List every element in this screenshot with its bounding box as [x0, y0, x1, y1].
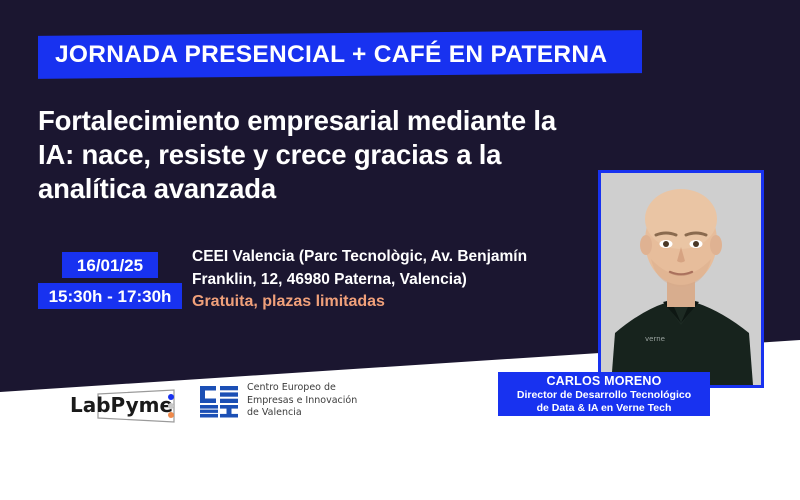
- speaker-role-line2: de Data & IA en Verne Tech: [537, 402, 672, 415]
- ceei-text-line1: Centro Europeo de: [247, 382, 357, 395]
- event-poster: JORNADA PRESENCIAL + CAFÉ EN PATERNA For…: [0, 0, 800, 500]
- time-badge: 15:30h - 17:30h: [38, 283, 182, 309]
- speaker-photo: verne: [598, 170, 764, 388]
- ribbon-label: JORNADA PRESENCIAL + CAFÉ EN PATERNA: [38, 41, 607, 69]
- date-badge-label: 16/01/25: [77, 257, 143, 274]
- ceei-text-line3: de Valencia: [247, 407, 357, 420]
- speaker-name: CARLOS MORENO: [546, 374, 661, 389]
- speaker-portrait-icon: verne: [601, 173, 761, 385]
- header-ribbon: JORNADA PRESENCIAL + CAFÉ EN PATERNA: [38, 30, 642, 79]
- labpyme-logo-icon: LabPyme: [70, 386, 188, 426]
- svg-text:verne: verne: [645, 335, 665, 343]
- date-badge: 16/01/25: [62, 252, 158, 278]
- footer-funding-strip: Financiado por la Unión Europea NextGene…: [0, 440, 800, 500]
- time-badge-label: 15:30h - 17:30h: [49, 288, 172, 305]
- ceei-text-line2: Empresas e Innovación: [247, 395, 357, 408]
- page-title: Fortalecimiento empresarial mediante la …: [38, 104, 598, 206]
- ceei-logo: Centro Europeo de Empresas e Innovación …: [198, 382, 357, 420]
- partner-logos: LabPyme: [60, 380, 400, 432]
- speaker-role-line1: Director de Desarrollo Tecnológico: [517, 389, 691, 402]
- speaker-caption: CARLOS MORENO Director de Desarrollo Tec…: [498, 372, 710, 416]
- ceei-logo-icon: [198, 384, 240, 418]
- venue-address: CEEI Valencia (Parc Tecnològic, Av. Benj…: [192, 245, 552, 291]
- ceei-logo-text: Centro Europeo de Empresas e Innovación …: [247, 382, 357, 420]
- labpyme-logo: LabPyme: [70, 386, 188, 426]
- price-note: Gratuita, plazas limitadas: [192, 292, 385, 313]
- labpyme-wordmark: LabPyme: [70, 393, 173, 417]
